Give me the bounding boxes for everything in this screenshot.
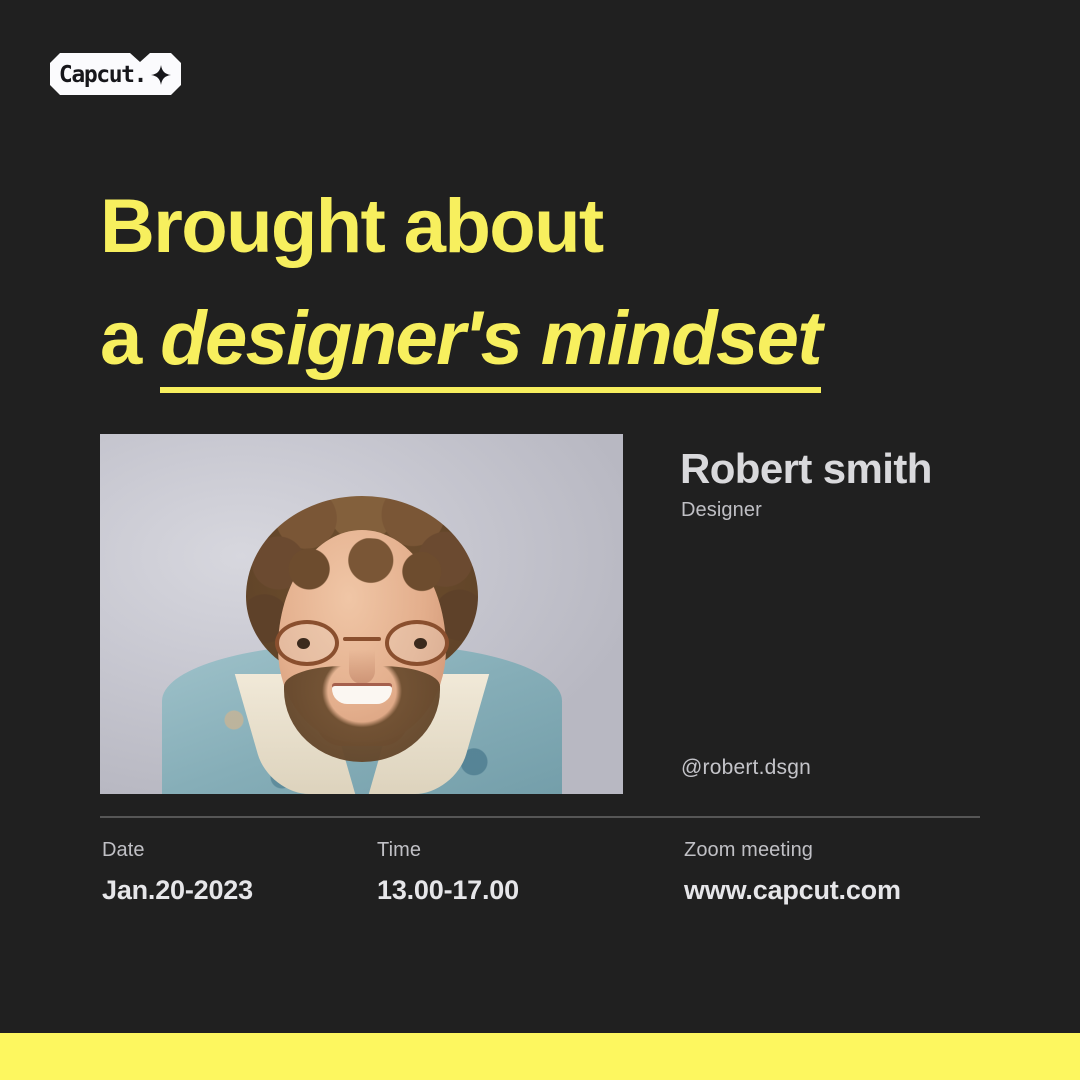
detail-value: 13.00-17.00	[377, 877, 519, 904]
speaker-role: Designer	[681, 499, 762, 522]
detail-value[interactable]: www.capcut.com	[684, 877, 901, 904]
event-details: Date Jan.20-2023 Time 13.00-17.00 Zoom m…	[0, 840, 1080, 920]
sparkle-star-icon	[151, 65, 171, 85]
detail-date: Date Jan.20-2023	[102, 840, 253, 904]
photo-subject	[100, 434, 623, 794]
speaker-handle[interactable]: @robert.dsgn	[681, 756, 811, 780]
headline-line-1: Brought about	[100, 171, 980, 283]
detail-time: Time 13.00-17.00	[377, 840, 519, 904]
glasses-bridge	[343, 637, 381, 641]
smile	[332, 686, 392, 704]
headline: Brought about a designer's mindset	[100, 171, 980, 396]
horizontal-divider	[100, 816, 980, 818]
detail-value: Jan.20-2023	[102, 877, 253, 904]
detail-label: Zoom meeting	[684, 840, 901, 860]
headline-emphasis: designer's mindset	[160, 300, 821, 393]
bottom-accent-bar	[0, 1033, 1080, 1080]
speaker-name: Robert smith	[680, 446, 932, 492]
headline-line-2-prefix: a	[100, 296, 160, 381]
eye-right	[414, 638, 427, 649]
detail-zoom-meeting: Zoom meeting www.capcut.com	[684, 840, 901, 904]
event-poster: Capcut. Brought about a designer's minds…	[0, 0, 1080, 1080]
eye-left	[297, 638, 310, 649]
headline-line-2: a designer's mindset	[100, 283, 980, 395]
logo-wordmark: Capcut.	[59, 64, 146, 87]
detail-label: Date	[102, 840, 253, 860]
detail-label: Time	[377, 840, 519, 860]
speaker-photo	[100, 434, 623, 794]
eyeglasses-icon	[269, 620, 455, 666]
capcut-logo-badge[interactable]: Capcut.	[50, 53, 181, 95]
